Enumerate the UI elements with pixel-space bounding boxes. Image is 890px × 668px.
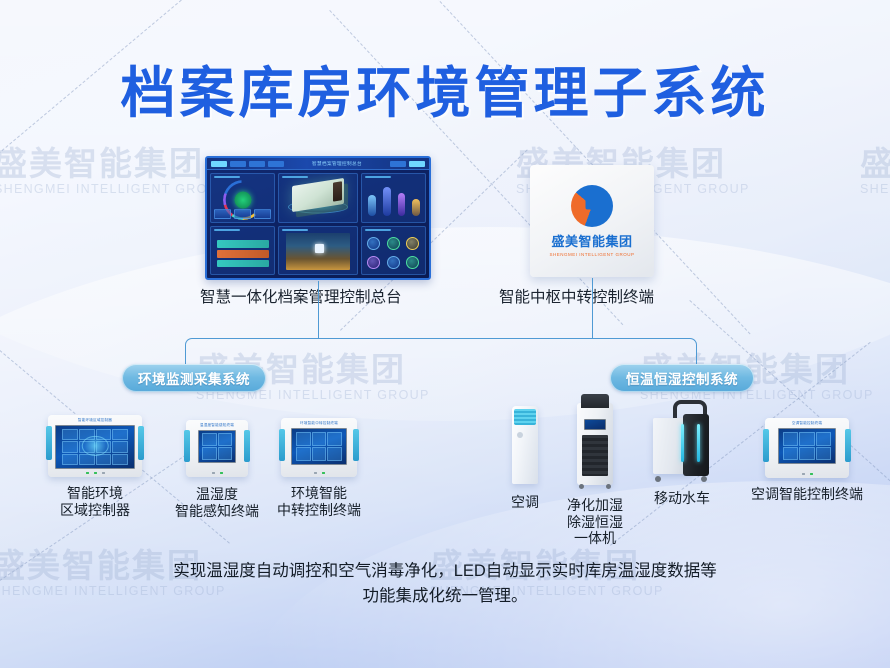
panel-wing-icon [845,429,851,462]
shengmei-logo-icon [571,185,613,227]
dashboard-tab-icon [211,161,227,167]
led-indicator-icon [220,472,223,475]
device-label-line: 空调 [490,494,560,511]
screen-grid-icon [202,433,232,459]
group-badge-thermo-humidity-control[interactable]: 恒温恒湿控制系统 [610,364,754,392]
wheel-icon [606,484,611,489]
led-indicator-icon [322,472,325,475]
hmi-panel-small-icon: 温湿度智能感知终端 [186,420,248,477]
dashboard-body [207,170,429,278]
purifier-display-icon [584,419,606,430]
device-icon-grid [366,236,422,270]
led-indicator-icon [86,472,89,475]
panel-screen [198,430,236,463]
dashboard-tab-icon [249,161,265,167]
device-icon [406,237,419,250]
dashboard-3d-model-card [278,173,358,223]
led-indicator-icon [212,472,215,475]
device-label-line: 智能环境 [30,485,160,502]
device-icon [406,256,419,269]
bar [398,193,406,216]
dashboard-gauge-card [210,173,275,223]
dashboard-device-icons-card [361,226,426,276]
uv-lamp-icon [697,424,700,462]
device-label-line: 中转控制终端 [256,502,382,519]
dashboard-trend-card [210,226,275,276]
device-environment-relay-terminal[interactable]: 环境智能中转控制终端 环境智能 中转控制终端 [256,418,382,518]
purifier-wheels [579,484,611,489]
device-icon [387,237,400,250]
logo-text-en: SHENGMEI INTELLIGENT GROUP [550,252,635,257]
device-label: 移动水车 [636,490,728,507]
dashboard-status-icon [390,161,406,167]
trend-stripe [217,260,269,268]
device-environment-area-controller[interactable]: 智能环境区域控制器 智能环境 区域控制器 [30,415,160,518]
led-indicator-icon [314,472,317,475]
purifier-grill-icon [582,435,608,476]
dashboard-clock-icon [409,161,425,167]
screen-grid-icon [783,432,830,461]
air-conditioner-icon [512,406,538,484]
trend-stripes-icon [217,240,269,268]
device-label-line: 空调智能控制终端 [740,486,874,503]
device-purifier-humidifier-allinone[interactable]: 净化加湿 除湿恒湿 一体机 [556,403,634,547]
device-label-line: 区域控制器 [30,502,160,519]
device-label: 智能环境 区域控制器 [30,485,160,518]
device-label-line: 一体机 [556,530,634,547]
panel-wing-icon [138,426,144,460]
screen-grid-icon [296,432,341,461]
device-icon [387,256,400,269]
device-label: 空调智能控制终端 [740,486,874,503]
panel-header-text: 空调智能控制终端 [765,418,849,426]
group-badge-environment-monitoring[interactable]: 环境监测采集系统 [122,364,266,392]
dashboard-bars-card [361,173,426,223]
panel-led-row [48,472,142,475]
watermark: 盛美智能集团 SHENGMEI INTELLIGENT GROUP [860,146,890,196]
connector-stem-hub [592,278,593,338]
device-label: 环境智能 中转控制终端 [256,485,382,518]
panel-screen [291,428,347,465]
watermark-cn: 盛美智能集团 [0,146,228,182]
device-mobile-water-cart[interactable]: 移动水车 [636,400,728,507]
wheel-icon [701,476,707,482]
panel-led-row [765,473,849,476]
led-indicator-icon [802,473,805,476]
panel-wing-icon [279,429,285,461]
dashboard-video-card [278,226,358,276]
dashboard-tab-icon [230,161,246,167]
device-ac-control-terminal[interactable]: 空调智能控制终端 空调智能控制终端 [740,418,874,503]
panel-screen [778,428,836,464]
trend-stripe [217,250,269,258]
hmi-panel-medium-icon: 环境智能中转控制终端 [281,418,357,477]
dashboard-button-row [214,209,271,219]
purifier-top-icon [581,394,609,408]
device-label-line: 净化加湿 [556,497,634,514]
connector-stem-console [318,281,319,338]
footer-description: 实现温湿度自动调控和空气消毒净化，LED自动显示实时库房温湿度数据等 功能集成化… [90,559,800,610]
wheel-icon [579,484,584,489]
panel-wing-icon [244,430,250,461]
panel-header-text: 智能环境区域控制器 [48,415,142,423]
page-title: 档案库房环境管理子系统 [0,48,890,128]
device-label-line: 除湿恒湿 [556,514,634,531]
caption-hub-terminal: 智能中枢中转控制终端 [499,285,654,307]
dashboard-left-column [210,173,275,275]
watermark: 盛美智能集团 SHENGMEI INTELLIGENT GROUP [0,146,228,196]
watermark-cn: 盛美智能集团 [860,146,890,182]
ac-control-terminal-icon: 空调智能控制终端 [765,418,849,478]
dashboard-tab-icon [268,161,284,167]
uv-lamp-icon [681,424,684,462]
device-label-line: 环境智能 [256,485,382,502]
device-icon [367,237,380,250]
dashboard-button [254,209,271,219]
panel-header-text: 温湿度智能感知终端 [186,420,248,428]
dashboard-center-column [278,173,358,275]
caption-dashboard-console: 智慧一体化档案管理控制总台 [200,285,402,307]
footer-line-1: 实现温湿度自动调控和空气消毒净化，LED自动显示实时库房温湿度数据等 [90,559,800,585]
watermark-en: SHENGMEI INTELLIGENT GROUP [0,182,228,196]
device-icon [367,256,380,269]
dashboard-button [214,209,231,219]
panel-screen [55,425,135,469]
wheel-icon [655,476,661,482]
led-indicator-icon [94,472,97,475]
dashboard-button [234,209,251,219]
bar [412,199,420,216]
panel-led-row [186,472,248,475]
panel-wing-icon [763,429,769,462]
bar [368,195,376,216]
watermark-en: SHENGMEI INTELLIGENT GROUP [860,182,890,196]
screen-core-icon [82,436,109,456]
bar-chart-icon [368,183,420,216]
device-label: 净化加湿 除湿恒湿 一体机 [556,497,634,547]
video-thumbnail-icon [286,233,350,270]
dashboard-console-image[interactable]: 智慧档案管理控制总台 [205,156,431,280]
trend-stripe [217,240,269,248]
panel-wing-icon [184,430,190,461]
bar [383,187,391,216]
device-air-conditioner[interactable]: 空调 [490,406,560,511]
panel-wing-icon [353,429,359,461]
cart-front-panel-icon [683,414,709,476]
dashboard-header: 智慧档案管理控制总台 [207,158,429,170]
device-label: 空调 [490,494,560,511]
dashboard-right-column [361,173,426,275]
hub-terminal-image[interactable]: 盛美智能集团 SHENGMEI INTELLIGENT GROUP [530,165,654,277]
purifier-cabinet-icon [577,403,613,485]
logo-text-cn: 盛美智能集团 [551,231,632,250]
device-label-line: 移动水车 [636,490,728,507]
footer-line-2: 功能集成化统一管理。 [90,584,800,610]
led-indicator-icon [102,472,105,475]
panel-header-text: 环境智能中转控制终端 [281,418,357,426]
panel-led-row [281,472,357,475]
gauge-center-icon [234,192,251,209]
dashboard-header-title: 智慧档案管理控制总台 [287,161,387,167]
hmi-panel-large-icon: 智能环境区域控制器 [48,415,142,477]
mobile-water-cart-icon [653,400,711,484]
led-indicator-icon [810,473,813,476]
panel-wing-icon [46,426,52,460]
